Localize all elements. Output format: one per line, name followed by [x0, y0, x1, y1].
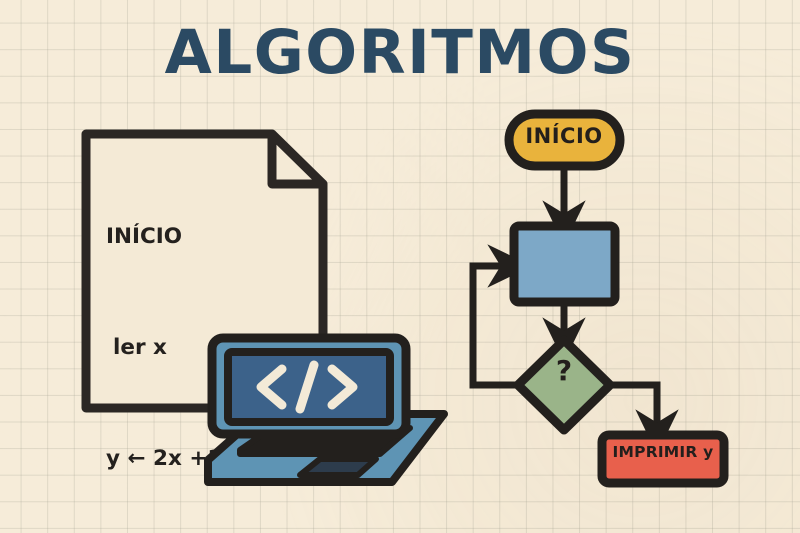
flowchart-svg [452, 104, 782, 504]
flow-node-output[interactable] [602, 435, 724, 483]
page-title: ALGORITMOS [0, 22, 800, 83]
laptop-icon [196, 332, 450, 492]
code-line-1: INÍCIO [106, 218, 326, 255]
flow-node-decision[interactable] [518, 340, 610, 430]
flow-node-start[interactable] [509, 114, 620, 166]
flow-node-process[interactable] [514, 226, 615, 302]
laptop-illustration [196, 332, 450, 492]
poster-canvas: ALGORITMOS INÍCIO ler x y ← 2x +1 se y >… [0, 0, 800, 533]
edge-decision-to-output [610, 385, 657, 431]
flowchart: INÍCIO ? IMPRIMIR y [452, 104, 782, 504]
